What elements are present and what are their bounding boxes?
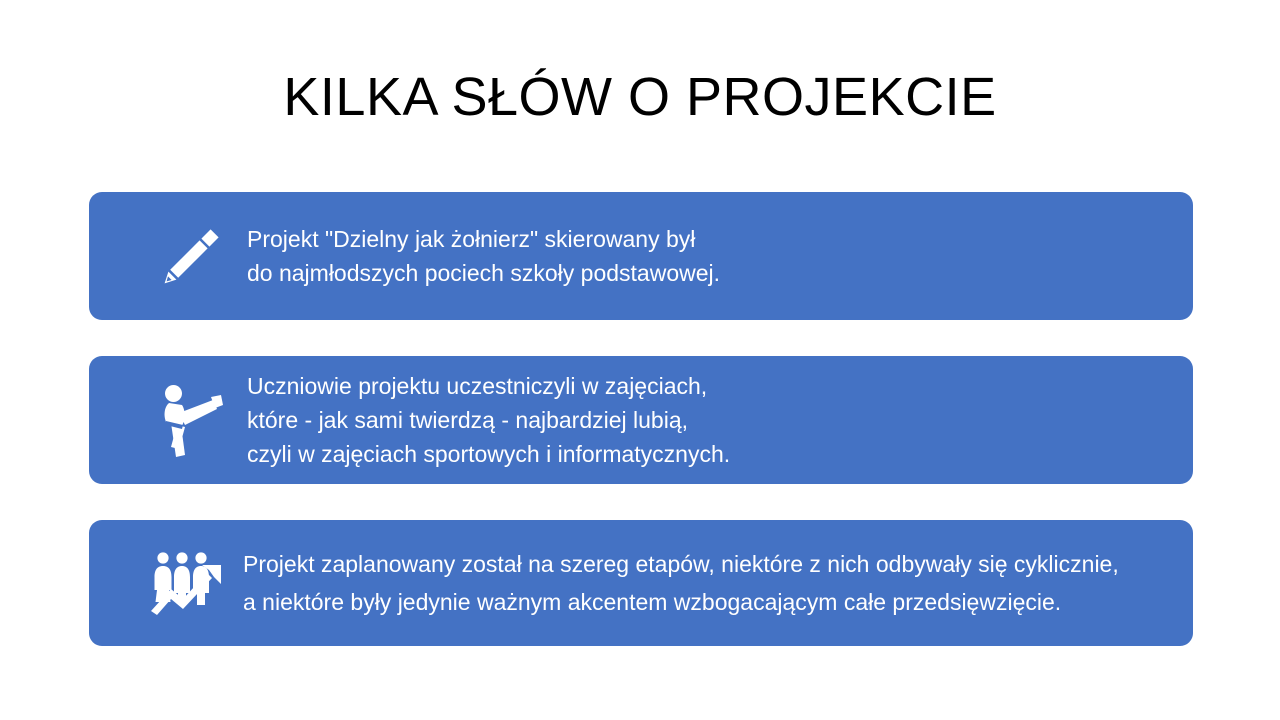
card-text-3: Projekt zaplanowany został na szereg eta… bbox=[243, 545, 1193, 621]
info-card-3[interactable]: Projekt zaplanowany został na szereg eta… bbox=[89, 520, 1193, 646]
card-text-1: Projekt "Dzielny jak żołnierz" skierowan… bbox=[247, 222, 1193, 290]
info-card-1[interactable]: Projekt "Dzielny jak żołnierz" skierowan… bbox=[89, 192, 1193, 320]
presentation-slide: KILKA SŁÓW O PROJEKCIE Projekt "Dz bbox=[0, 0, 1280, 720]
people-growth-chart-icon bbox=[133, 549, 243, 617]
pencil-icon bbox=[137, 219, 247, 293]
martial-arts-kick-icon bbox=[137, 381, 247, 459]
page-title: KILKA SŁÓW O PROJEKCIE bbox=[0, 68, 1280, 127]
card-list: Projekt "Dzielny jak żołnierz" skierowan… bbox=[89, 192, 1193, 646]
card-text-2: Uczniowie projektu uczestniczyli w zajęc… bbox=[247, 369, 1193, 471]
info-card-2[interactable]: Uczniowie projektu uczestniczyli w zajęc… bbox=[89, 356, 1193, 484]
